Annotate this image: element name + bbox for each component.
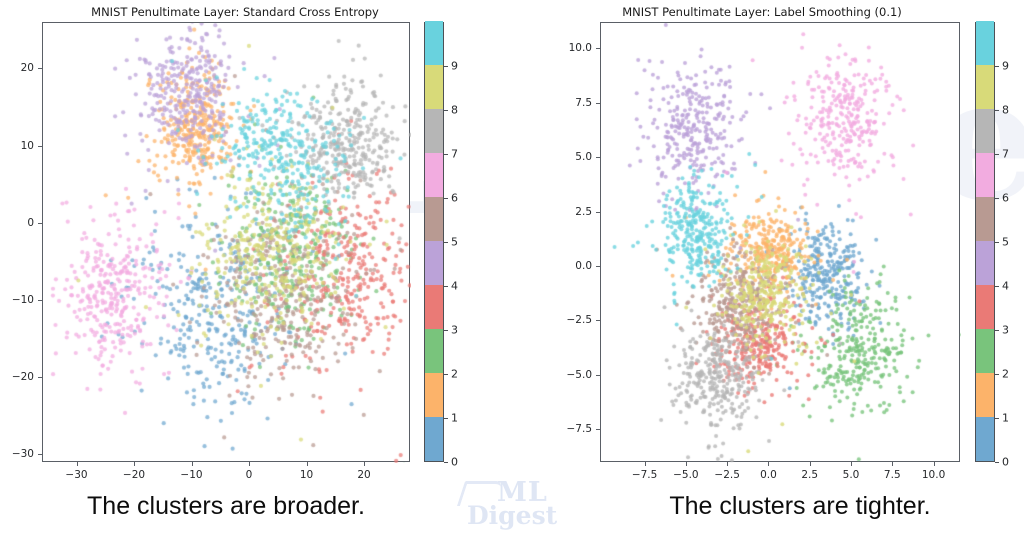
colorbar-segment-5 <box>425 197 443 241</box>
colorbar-label-1: 1 <box>451 412 458 425</box>
colorbar-label-1: 1 <box>1002 412 1009 425</box>
y-tick-label: −2.5 <box>548 314 592 326</box>
colorbar-tick <box>995 462 999 463</box>
colorbar-segment-7 <box>976 109 994 153</box>
x-tick-label: 10 <box>300 469 313 481</box>
colorbar-segment-6 <box>425 153 443 197</box>
colorbar-segment-0 <box>976 417 994 461</box>
x-tick <box>727 462 728 466</box>
x-tick-label: −5.0 <box>673 469 699 481</box>
colorbar-label-8: 8 <box>1002 104 1009 117</box>
x-tick-label: 7.5 <box>884 469 901 481</box>
y-tick <box>596 212 600 213</box>
colorbar-segment-8 <box>425 65 443 109</box>
colorbar-segment-8 <box>976 65 994 109</box>
colorbar-tick <box>995 66 999 67</box>
y-tick-label: −20 <box>0 371 34 383</box>
colorbar-tick <box>444 418 448 419</box>
colorbar-label-6: 6 <box>1002 192 1009 205</box>
x-tick <box>645 462 646 466</box>
y-tick-label: 20 <box>0 62 34 74</box>
scatter-canvas-left <box>43 23 411 463</box>
colorbar-label-9: 9 <box>451 60 458 73</box>
y-tick <box>596 48 600 49</box>
colorbar-label-6: 6 <box>451 192 458 205</box>
panel-title-left: MNIST Penultimate Layer: Standard Cross … <box>0 5 470 19</box>
colorbar-label-2: 2 <box>1002 368 1009 381</box>
colorbar-label-3: 3 <box>451 324 458 337</box>
colorbar-tick <box>444 462 448 463</box>
x-tick-label: 5.0 <box>843 469 860 481</box>
y-tick-label: 7.5 <box>548 97 592 109</box>
colorbar-tick <box>995 286 999 287</box>
y-tick-label: 0.0 <box>548 260 592 272</box>
x-tick <box>77 462 78 466</box>
x-tick-label: −2.5 <box>714 469 740 481</box>
scatter-canvas-right <box>601 23 961 463</box>
x-tick <box>134 462 135 466</box>
colorbar-segment-6 <box>976 153 994 197</box>
colorbar-tick <box>995 198 999 199</box>
colorbar-segment-4 <box>425 241 443 285</box>
panel-standard-cross-entropy: MNIST Penultimate Layer: Standard Cross … <box>0 0 470 480</box>
figure-canvas: ML Digest MNIST Penultimate Layer: Stand… <box>0 0 1024 545</box>
x-tick <box>364 462 365 466</box>
colorbar-right <box>975 22 995 462</box>
colorbar-segment-1 <box>976 373 994 417</box>
y-tick-label: −10 <box>0 294 34 306</box>
colorbar-segment-7 <box>425 109 443 153</box>
colorbar-label-4: 4 <box>1002 280 1009 293</box>
colorbar-segment-3 <box>425 285 443 329</box>
x-tick <box>768 462 769 466</box>
colorbar-tick <box>995 154 999 155</box>
y-tick-label: 10 <box>0 140 34 152</box>
colorbar-label-7: 7 <box>1002 148 1009 161</box>
colorbar-segment-9 <box>425 21 443 65</box>
colorbar-tick <box>995 418 999 419</box>
colorbar-label-8: 8 <box>451 104 458 117</box>
x-tick <box>686 462 687 466</box>
x-tick <box>249 462 250 466</box>
colorbar-label-0: 0 <box>1002 456 1009 469</box>
watermark-ml-text: ML <box>497 477 548 508</box>
y-tick-label: 0 <box>0 217 34 229</box>
panel-label-smoothing: MNIST Penultimate Layer: Label Smoothing… <box>512 0 1024 480</box>
colorbar-segment-2 <box>425 329 443 373</box>
x-tick-label: −7.5 <box>632 469 658 481</box>
colorbar-label-5: 5 <box>1002 236 1009 249</box>
colorbar-label-0: 0 <box>451 456 458 469</box>
watermark-digest-text: Digest <box>467 501 557 530</box>
colorbar-tick <box>995 330 999 331</box>
x-tick-label: 0.0 <box>760 469 777 481</box>
x-tick <box>307 462 308 466</box>
caption-left: The clusters are broader. <box>0 492 452 521</box>
y-tick <box>38 454 42 455</box>
colorbar-tick <box>444 286 448 287</box>
colorbar-label-9: 9 <box>1002 60 1009 73</box>
y-tick <box>596 320 600 321</box>
y-tick <box>596 103 600 104</box>
watermark-mldigest: ML Digest <box>455 479 587 543</box>
plot-axes-right <box>600 22 960 462</box>
plot-axes-left <box>42 22 410 462</box>
x-tick <box>934 462 935 466</box>
y-tick-label: 10.0 <box>548 42 592 54</box>
y-tick <box>596 375 600 376</box>
y-tick <box>596 429 600 430</box>
colorbar-tick <box>444 330 448 331</box>
colorbar-segment-4 <box>976 241 994 285</box>
x-tick <box>851 462 852 466</box>
colorbar-left <box>424 22 444 462</box>
x-tick-label: 10.0 <box>922 469 945 481</box>
y-tick <box>596 157 600 158</box>
x-tick-label: 0 <box>246 469 253 481</box>
colorbar-segment-1 <box>425 373 443 417</box>
colorbar-label-7: 7 <box>451 148 458 161</box>
colorbar-tick <box>444 66 448 67</box>
x-tick <box>810 462 811 466</box>
y-tick-label: 5.0 <box>548 151 592 163</box>
book-icon <box>457 481 502 506</box>
caption-right: The clusters are tighter. <box>580 492 1020 521</box>
colorbar-tick <box>444 242 448 243</box>
y-tick <box>38 223 42 224</box>
colorbar-segment-3 <box>976 285 994 329</box>
colorbar-label-4: 4 <box>451 280 458 293</box>
colorbar-tick <box>444 154 448 155</box>
colorbar-tick <box>444 374 448 375</box>
y-tick-label: 2.5 <box>548 206 592 218</box>
colorbar-segment-0 <box>425 417 443 461</box>
y-tick-label: −7.5 <box>548 423 592 435</box>
colorbar-label-3: 3 <box>1002 324 1009 337</box>
x-tick <box>892 462 893 466</box>
colorbar-tick <box>995 242 999 243</box>
colorbar-tick <box>995 110 999 111</box>
colorbar-segment-5 <box>976 197 994 241</box>
y-tick <box>38 377 42 378</box>
panel-title-right: MNIST Penultimate Layer: Label Smoothing… <box>542 5 982 19</box>
colorbar-tick <box>444 110 448 111</box>
colorbar-label-5: 5 <box>451 236 458 249</box>
y-tick <box>596 266 600 267</box>
colorbar-tick <box>444 198 448 199</box>
x-tick-label: −10 <box>180 469 202 481</box>
y-tick <box>38 68 42 69</box>
y-tick <box>38 300 42 301</box>
y-tick-label: −30 <box>0 448 34 460</box>
x-tick-label: 2.5 <box>801 469 818 481</box>
y-tick <box>38 146 42 147</box>
colorbar-label-2: 2 <box>451 368 458 381</box>
x-tick-label: −30 <box>65 469 87 481</box>
x-tick <box>192 462 193 466</box>
colorbar-segment-9 <box>976 21 994 65</box>
x-tick-label: 20 <box>357 469 370 481</box>
colorbar-tick <box>995 374 999 375</box>
colorbar-segment-2 <box>976 329 994 373</box>
x-tick-label: −20 <box>123 469 145 481</box>
y-tick-label: −5.0 <box>548 369 592 381</box>
